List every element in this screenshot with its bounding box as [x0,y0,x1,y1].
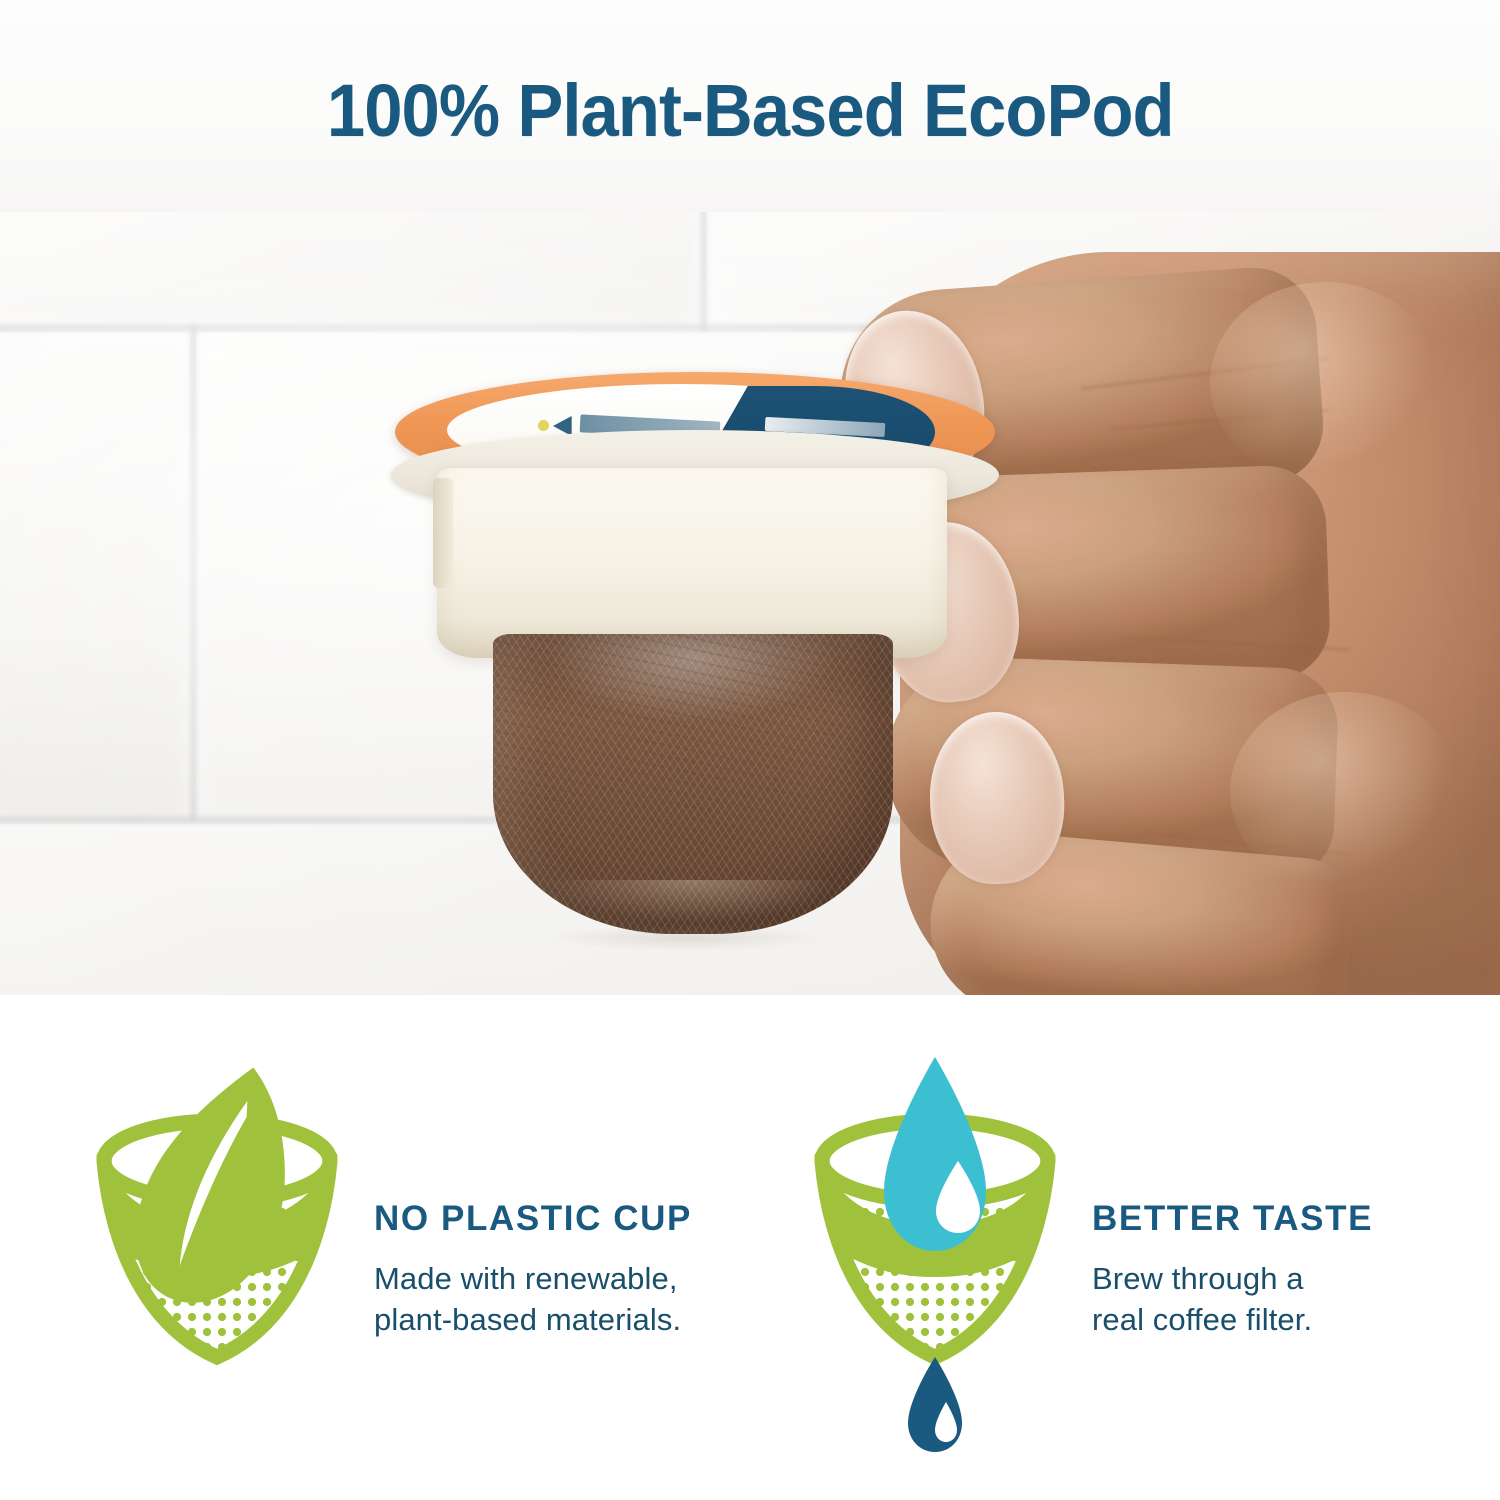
feature-body: Made with renewable, plant-based materia… [374,1258,692,1340]
pod-lid-logo-dot [538,420,549,431]
coffee-pod [375,372,1015,842]
feature-text-block: NO PLASTIC CUP Made with renewable, plan… [352,1057,692,1340]
pod-fiber-filter [493,634,893,934]
pod-drop-shadow [495,920,875,956]
tile [0,332,190,822]
feature-no-plastic-cup: NO PLASTIC CUP Made with renewable, plan… [0,995,782,1500]
water-drop-through-filter-basket-icon [800,1057,1070,1457]
leaf-in-filter-basket-icon [82,1057,352,1457]
feature-heading: BETTER TASTE [1092,1201,1373,1236]
header-banner: 100% Plant-Based EcoPod [0,0,1500,212]
feature-text-block: BETTER TASTE Brew through a real coffee … [1070,1057,1373,1340]
knuckle-highlight [1210,282,1440,482]
pod-collar-notch [433,478,453,588]
pod-collar [437,468,947,658]
tile [0,212,700,330]
product-photo [0,212,1500,995]
feature-row: NO PLASTIC CUP Made with renewable, plan… [0,995,1500,1500]
feature-heading: NO PLASTIC CUP [374,1201,692,1236]
grout-line-vertical [700,212,707,330]
grout-line-vertical [190,324,197,820]
knuckle-highlight [1230,692,1460,892]
feature-better-taste: BETTER TASTE Brew through a real coffee … [782,995,1500,1500]
page-title: 100% Plant-Based EcoPod [327,68,1174,153]
feature-body: Brew through a real coffee filter. [1092,1258,1373,1340]
